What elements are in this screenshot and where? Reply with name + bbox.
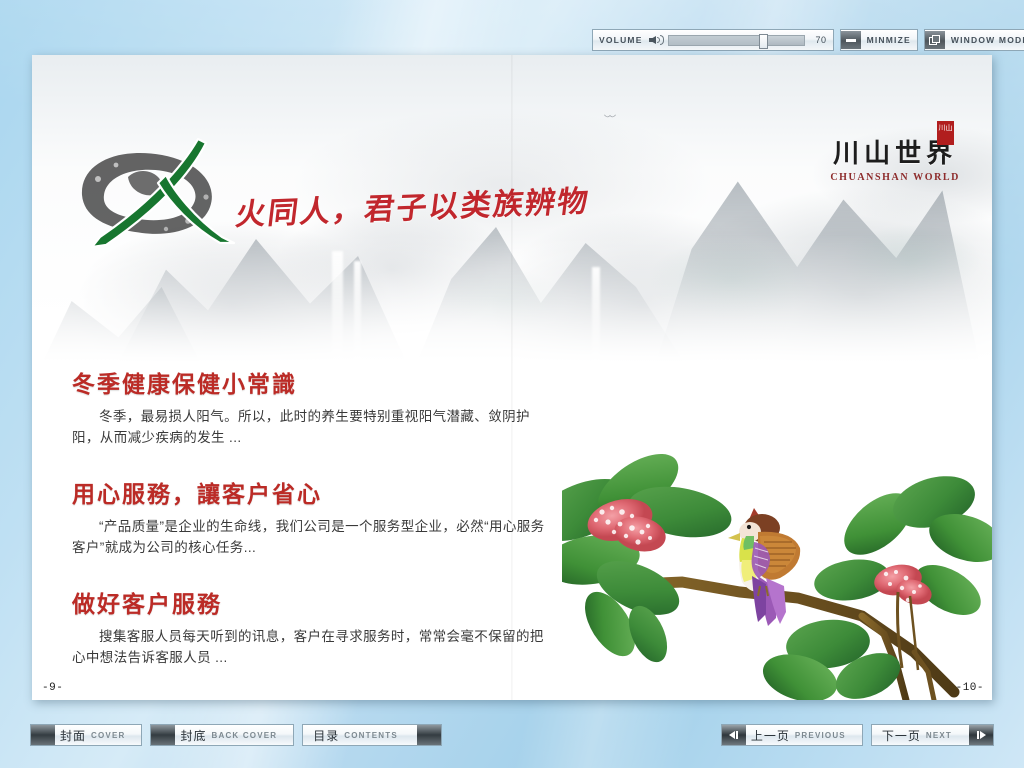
nav-label-en: CONTENTS	[344, 731, 398, 740]
nav-button-previous[interactable]: 上一页 PREVIOUS	[721, 724, 863, 746]
volume-value: 70	[810, 35, 827, 45]
bird-on-branch-illustration	[562, 420, 992, 700]
window-mode-label: WINDOW MODE	[945, 35, 1024, 45]
cover-icon	[31, 725, 55, 745]
nav-label-en: BACK COVER	[211, 731, 277, 740]
nav-label-en: COVER	[91, 731, 125, 740]
nav-label-en: PREVIOUS	[795, 731, 846, 740]
article-item[interactable]: 用心服務，讓客户省心 “产品质量”是企业的生命线，我们公司是一个服务型企业，必然…	[72, 475, 557, 558]
nav-button-back-cover[interactable]: 封底 BACK COVER	[150, 724, 294, 746]
page-turn-nav: 上一页 PREVIOUS 下一页 NEXT	[721, 724, 994, 746]
page-number-left: -9-	[42, 682, 63, 694]
next-arrow-icon	[969, 725, 993, 745]
volume-slider[interactable]	[668, 35, 805, 46]
nav-label-cn: 目录	[313, 727, 339, 744]
article-item[interactable]: 冬季健康保健小常識 冬季，最易损人阳气。所以，此时的养生要特别重视阳气潜藏、敛阴…	[72, 365, 557, 448]
page-number-right: -10-	[956, 682, 984, 694]
previous-arrow-icon	[722, 725, 746, 745]
article-item[interactable]: 做好客户服務 搜集客服人员每天听到的讯息，客户在寻求服务时，常常会毫不保留的把心…	[72, 585, 557, 668]
article-body: “产品质量”是企业的生命线，我们公司是一个服务型企业，必然“用心服务客户”就成为…	[72, 516, 557, 558]
window-mode-icon	[925, 31, 945, 49]
article-title: 做好客户服務	[72, 585, 557, 619]
brand-name-en: CHUANSHAN WORLD	[830, 172, 960, 183]
nav-label-cn: 封底	[180, 727, 206, 744]
nav-button-next[interactable]: 下一页 NEXT	[871, 724, 994, 746]
book-section-nav: 封面 COVER 封底 BACK COVER 目录 CONTENTS	[30, 724, 442, 746]
window-control-bar: VOLUME 70 MINMIZE WINDOW MODE ✕ EXIT	[592, 30, 992, 50]
seal-stamp: 川山	[937, 121, 954, 145]
flying-bird-icon	[604, 113, 616, 120]
nav-label-cn: 下一页	[882, 727, 921, 744]
minimize-icon	[841, 31, 861, 49]
nav-label-cn: 封面	[60, 727, 86, 744]
article-list: 冬季健康保健小常識 冬季，最易损人阳气。所以，此时的养生要特别重视阳气潜藏、敛阴…	[72, 365, 557, 695]
article-title: 用心服務，讓客户省心	[72, 475, 557, 509]
brand-logo[interactable]: 川山 川山世界 CHUANSHAN WORLD	[830, 133, 960, 183]
speaker-icon	[649, 33, 665, 47]
nav-label-en: NEXT	[926, 731, 952, 740]
volume-control[interactable]: VOLUME 70	[592, 29, 834, 51]
minimize-button[interactable]: MINMIZE	[840, 29, 918, 51]
volume-label: VOLUME	[593, 35, 649, 45]
article-title: 冬季健康保健小常識	[72, 365, 557, 399]
book-page[interactable]: 火同人，君子以类族辨物 川山 川山世界 CHUANSHAN WORLD 冬季健康…	[32, 55, 992, 700]
contents-icon	[417, 725, 441, 745]
back-cover-icon	[151, 725, 175, 745]
article-body: 搜集客服人员每天听到的讯息，客户在寻求服务时，常常会毫不保留的把心中想法告诉客服…	[72, 626, 557, 668]
nav-button-contents[interactable]: 目录 CONTENTS	[302, 724, 442, 746]
logo-brush-ren-character	[70, 133, 250, 253]
nav-button-cover[interactable]: 封面 COVER	[30, 724, 142, 746]
minimize-label: MINMIZE	[861, 35, 917, 45]
window-mode-button[interactable]: WINDOW MODE	[924, 29, 1024, 51]
bird-figure	[728, 508, 800, 626]
nav-label-cn: 上一页	[751, 727, 790, 744]
article-body: 冬季，最易损人阳气。所以，此时的养生要特别重视阳气潜藏、敛阴护阳，从而减少疾病的…	[72, 406, 557, 448]
